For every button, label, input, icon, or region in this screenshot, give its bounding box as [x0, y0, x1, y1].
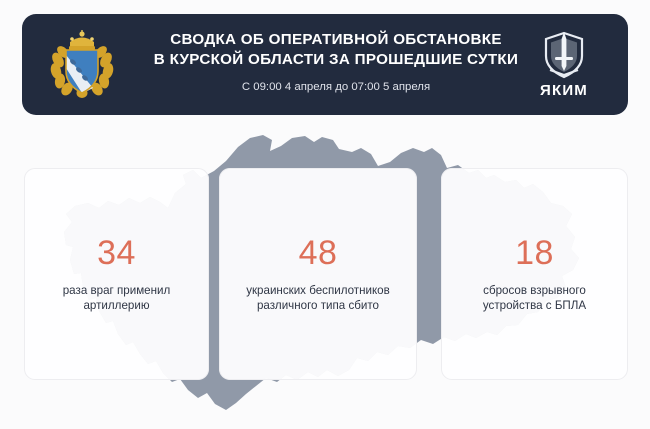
- statistic-label: сбросов взрывного устройства с БПЛА: [477, 283, 592, 314]
- statistic-card-drones: 48 украинских беспилотников различного т…: [219, 168, 417, 380]
- statistic-cards: 34 раза враг применил артиллерию 48 укра…: [0, 118, 650, 429]
- statistic-card-artillery: 34 раза враг применил артиллерию: [24, 168, 209, 380]
- report-period-subtitle: С 09:00 4 апреля до 07:00 5 апреля: [126, 80, 546, 94]
- statistic-label-line2: артиллерию: [83, 299, 149, 312]
- statistic-label-line2: устройства с БПЛА: [483, 299, 586, 312]
- shield-sword-icon: [541, 30, 587, 80]
- statistic-value: 48: [299, 235, 338, 271]
- page-title-line1: СВОДКА ОБ ОПЕРАТИВНОЙ ОБСТАНОВКЕ: [126, 30, 546, 50]
- brand-name: ЯКИМ: [522, 83, 606, 99]
- statistic-label-line1: раза враг применил: [63, 284, 171, 297]
- page-title-line2: В КУРСКОЙ ОБЛАСТИ ЗА ПРОШЕДШИЕ СУТКИ: [126, 50, 546, 70]
- header-text-block: СВОДКА ОБ ОПЕРАТИВНОЙ ОБСТАНОВКЕ В КУРСК…: [126, 30, 546, 94]
- crown-icon: [69, 30, 95, 50]
- statistic-value: 18: [515, 235, 554, 271]
- statistic-card-explosive-drops: 18 сбросов взрывного устройства с БПЛА: [441, 168, 628, 380]
- statistic-label: украинских беспилотников различного типа…: [240, 283, 396, 314]
- statistics-stage: 34 раза враг применил артиллерию 48 укра…: [0, 118, 650, 429]
- header-banner: СВОДКА ОБ ОПЕРАТИВНОЙ ОБСТАНОВКЕ В КУРСК…: [22, 14, 628, 115]
- statistic-label: раза враг применил артиллерию: [57, 283, 177, 314]
- statistic-label-line1: сбросов взрывного: [483, 284, 586, 297]
- kursk-oblast-coat-of-arms-icon: [46, 30, 118, 100]
- brand-block: ЯКИМ: [522, 30, 606, 99]
- statistic-label-line2: различного типа сбито: [257, 299, 379, 312]
- statistic-value: 34: [97, 235, 136, 271]
- statistic-label-line1: украинских беспилотников: [246, 284, 390, 297]
